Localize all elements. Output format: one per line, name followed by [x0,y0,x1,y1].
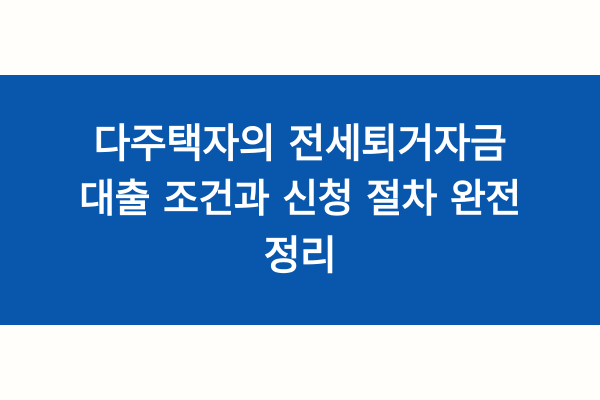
blue-title-band: 다주택자의 전세퇴거자금 대출 조건과 신청 절차 완전 정리 [0,75,600,325]
title-line-2: 대출 조건과 신청 절차 완전 [14,172,586,228]
top-margin-area [0,0,600,75]
bottom-margin-area [0,325,600,400]
title-line-3: 정리 [14,228,586,284]
page-title: 다주택자의 전세퇴거자금 대출 조건과 신청 절차 완전 정리 [0,116,600,284]
title-line-1: 다주택자의 전세퇴거자금 [14,116,586,172]
banner-card: 다주택자의 전세퇴거자금 대출 조건과 신청 절차 완전 정리 [0,0,600,400]
